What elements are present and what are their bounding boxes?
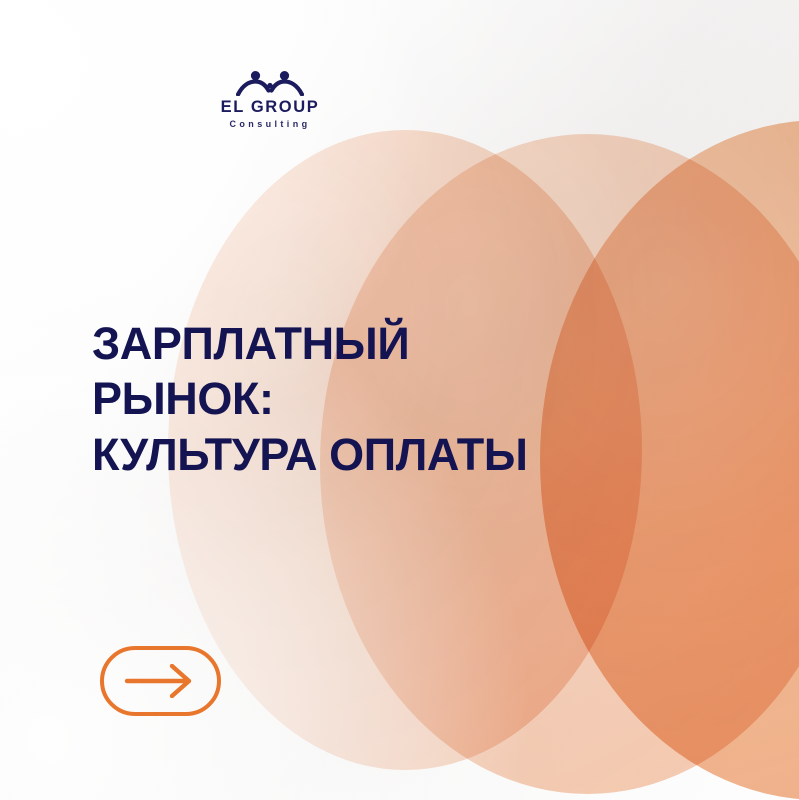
next-slide-button[interactable] [100, 646, 221, 716]
title-line-1: ЗАРПЛАТНЫЙ [92, 316, 528, 371]
brand-logo: EL GROUP Consulting [214, 70, 326, 129]
title-line-2: РЫНОК: [92, 371, 528, 426]
title-line-3: КУЛЬТУРА ОПЛАТЫ [92, 427, 528, 482]
arrow-right-icon [122, 664, 200, 698]
brand-name: EL GROUP [214, 99, 326, 116]
page-title: ЗАРПЛАТНЫЙ РЫНОК: КУЛЬТУРА ОПЛАТЫ [92, 316, 528, 482]
brand-tagline: Consulting [214, 120, 326, 129]
slide-canvas: EL GROUP Consulting ЗАРПЛАТНЫЙ РЫНОК: КУ… [0, 0, 799, 800]
two-people-icon [236, 70, 304, 96]
